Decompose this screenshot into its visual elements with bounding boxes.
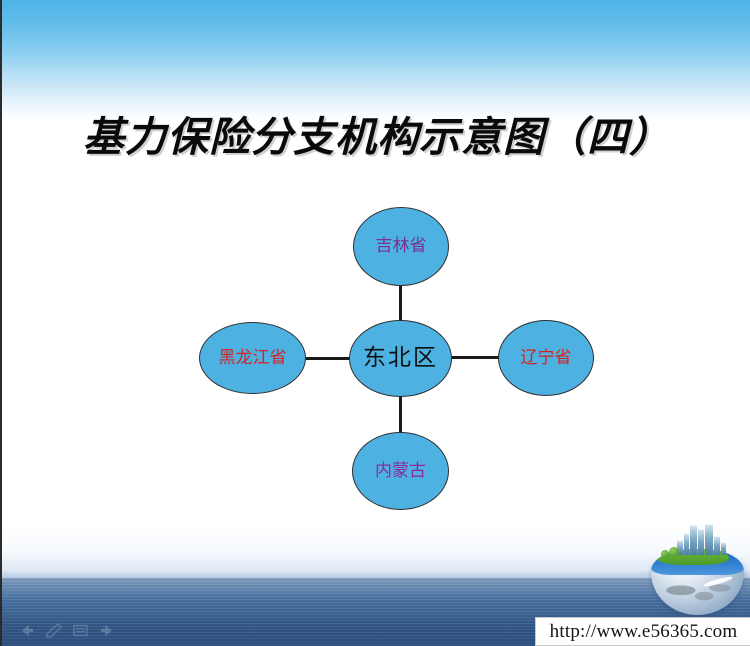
node-liaoning[interactable]: 辽宁省 [498,320,594,396]
presentation-slide: 基力保险分支机构示意图（四） 吉林省 黑龙江省 东北区 辽宁省 内蒙古 [0,0,750,646]
node-jilin-label: 吉林省 [376,238,427,255]
edge-center-to-left [302,357,356,360]
website-watermark-text: http://www.e56365.com [550,621,738,643]
node-northeast-region[interactable]: 东北区 [349,320,452,397]
globe-city-logo-icon [647,521,748,620]
slideshow-navbar [18,623,116,638]
next-slide-icon[interactable] [99,623,116,638]
slide-menu-icon[interactable] [72,623,89,638]
node-inner-mongolia-label: 内蒙古 [375,463,426,480]
tree-icon [661,550,669,558]
website-watermark: http://www.e56365.com [535,617,750,646]
tree-icon [669,547,679,557]
node-heilongjiang-label: 黑龙江省 [219,350,287,367]
node-liaoning-label: 辽宁省 [521,350,572,367]
edge-center-to-top [399,284,402,324]
edge-center-to-bottom [399,394,402,436]
node-northeast-region-label: 东北区 [363,347,438,370]
node-heilongjiang[interactable]: 黑龙江省 [199,322,306,394]
edge-center-to-right [446,356,502,359]
pen-tool-icon[interactable] [45,623,62,638]
org-chart-diagram: 吉林省 黑龙江省 东北区 辽宁省 内蒙古 [2,0,750,646]
node-inner-mongolia[interactable]: 内蒙古 [352,432,449,510]
city-skyline-icon [677,523,727,555]
node-jilin[interactable]: 吉林省 [353,207,449,286]
previous-slide-icon[interactable] [18,623,35,638]
